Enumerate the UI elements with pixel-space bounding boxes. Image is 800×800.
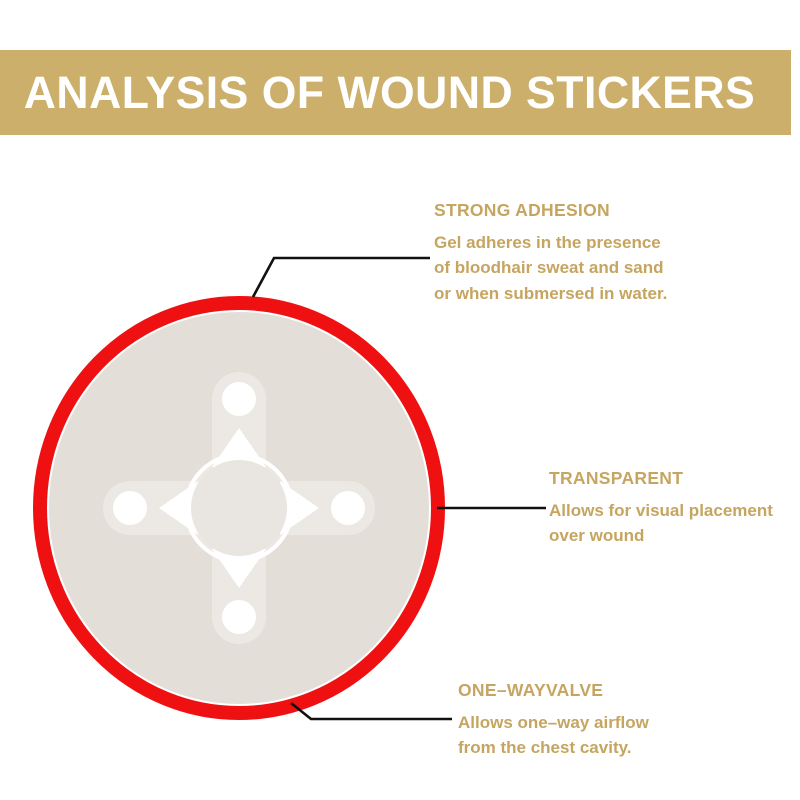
page-title: ANALYSIS OF WOUND STICKERS [0,70,755,115]
leader-line-strong-adhesion [253,258,430,297]
callout-body-line: Allows for visual placement [549,498,773,524]
callout-transparent: TRANSPARENT Allows for visual placement … [549,470,773,549]
callout-body-line: of bloodhair sweat and sand [434,255,667,281]
header-banner: ANALYSIS OF WOUND STICKERS [0,50,791,135]
callout-body-line: or when submersed in water. [434,281,667,307]
callout-body-line: from the chest cavity. [458,735,649,761]
callout-heading: TRANSPARENT [549,470,773,488]
callout-body-line: Allows one–way airflow [458,710,649,736]
wound-sticker-illustration [33,296,445,720]
callout-body-line: Gel adheres in the presence [434,230,667,256]
valve-center-face [191,460,287,556]
callout-heading: ONE–WAYVALVE [458,682,649,700]
callout-one-way-valve: ONE–WAYVALVE Allows one–way airflow from… [458,682,649,761]
callout-heading: STRONG ADHESION [434,202,667,220]
callout-strong-adhesion: STRONG ADHESION Gel adheres in the prese… [434,202,667,307]
callout-body-line: over wound [549,523,773,549]
